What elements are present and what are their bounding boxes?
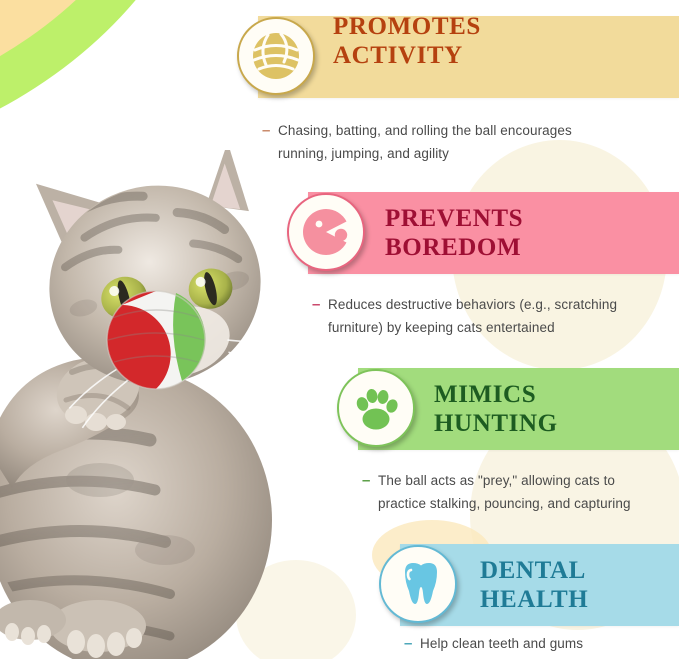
title-dental-health: DENTAL HEALTH <box>480 556 588 614</box>
decor-arc-yellow <box>0 0 190 122</box>
body-mimics-hunting: The ball acts as "prey," allowing cats t… <box>378 469 678 515</box>
body-prevents-boredom: Reduces destructive behaviors (e.g., scr… <box>328 293 676 339</box>
bullet-dash-3: – <box>404 632 412 655</box>
body-promotes-activity: Chasing, batting, and rolling the ball e… <box>278 119 673 165</box>
cat-illustration <box>0 150 310 659</box>
bullet-dash-2: – <box>362 469 370 492</box>
cat-photo <box>0 150 310 659</box>
bullet-dash-0: – <box>262 119 270 142</box>
bullet-dash-1: – <box>312 293 320 316</box>
title-promotes-activity: PROMOTES ACTIVITY <box>333 12 481 70</box>
infographic-canvas: PROMOTES ACTIVITY – Chasing, batting, an… <box>0 0 679 659</box>
decor-arc-green <box>0 0 230 170</box>
title-mimics-hunting: MIMICS HUNTING <box>434 380 558 438</box>
cat-head-ball-icon <box>287 193 365 271</box>
cat-head-ball-glyph <box>300 206 352 258</box>
yarn-ball-icon <box>237 17 315 95</box>
paw-print-icon <box>337 369 415 447</box>
body-dental-health: Help clean teeth and gums <box>420 632 678 655</box>
tooth-icon <box>379 545 457 623</box>
tooth-glyph <box>392 558 444 610</box>
title-prevents-boredom: PREVENTS BOREDOM <box>385 204 523 262</box>
yarn-ball-glyph <box>250 30 302 82</box>
paw-print-glyph <box>350 382 402 434</box>
crochet-ball-toy <box>107 291 206 389</box>
